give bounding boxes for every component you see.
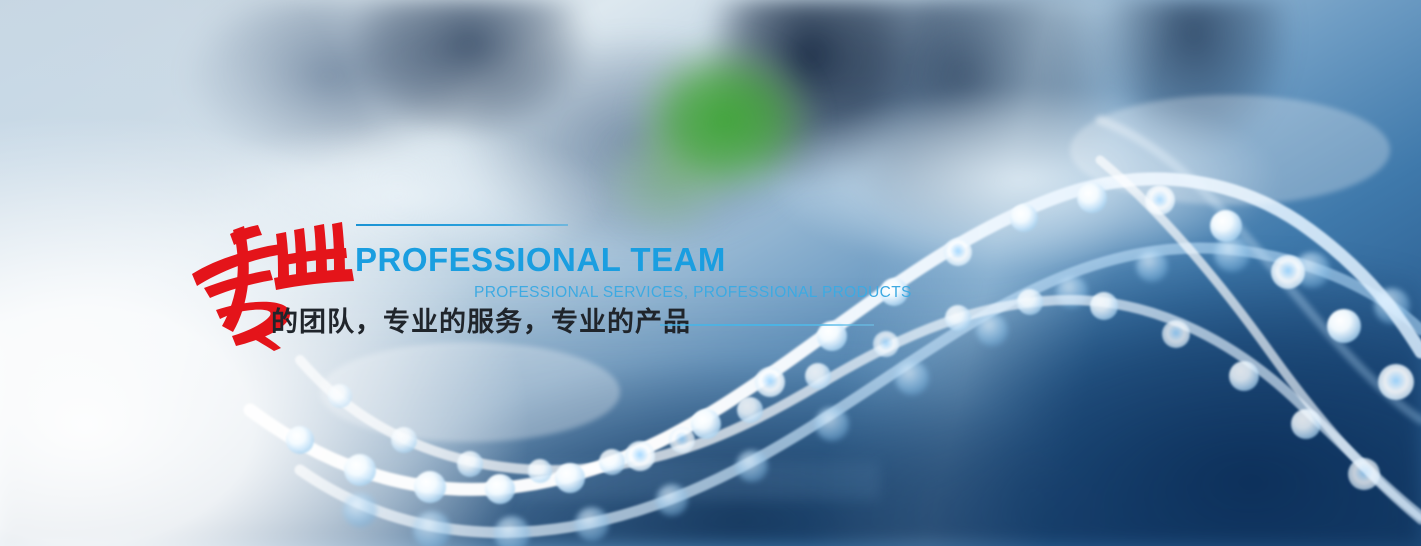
bottom-divider-rule xyxy=(660,324,874,326)
banner-subheadline: PROFESSIONAL SERVICES, PROFESSIONAL PROD… xyxy=(474,285,912,301)
top-divider-rule xyxy=(356,224,568,226)
professional-team-banner: PROFESSIONAL TEAM PROFESSIONAL SERVICES,… xyxy=(0,0,1421,546)
banner-chinese-tagline: 的团队，专业的服务，专业的产品 xyxy=(271,307,691,338)
banner-headline: PROFESSIONAL TEAM xyxy=(355,243,726,276)
